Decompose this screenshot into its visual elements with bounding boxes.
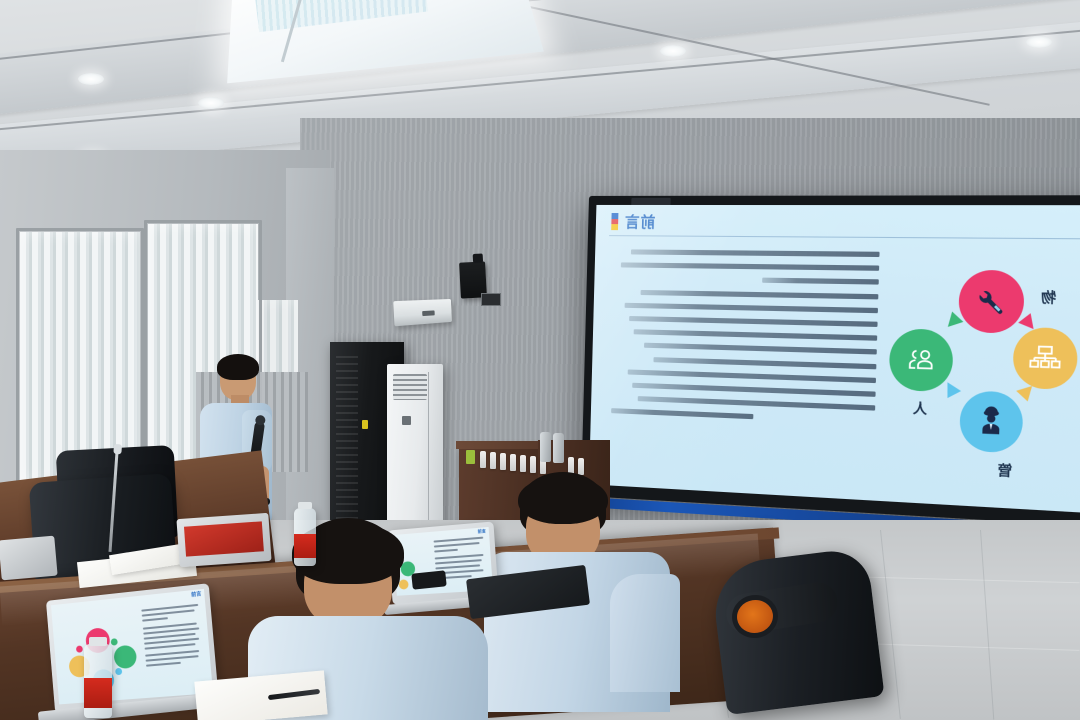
laptop-slide-logo: 前言 <box>191 590 202 598</box>
ac-grill <box>393 374 427 400</box>
worker-icon <box>974 405 1009 439</box>
attendee-arm <box>610 574 680 692</box>
green-cup <box>466 450 475 464</box>
downlight <box>78 73 104 85</box>
ac-brand-mark <box>402 416 411 425</box>
slide-paragraph <box>608 289 878 354</box>
desk-nameplate <box>176 513 271 567</box>
water-bottle <box>500 453 506 470</box>
desk-nameplate <box>0 536 58 581</box>
laptop-screen: 前言 <box>51 589 213 705</box>
floor-grout-line <box>880 530 901 719</box>
wall-split-ac <box>393 299 452 326</box>
downlight <box>1026 36 1052 48</box>
water-bottle <box>480 451 486 468</box>
diagram-arrow-1 <box>942 312 963 332</box>
attendee-hair-top <box>518 476 608 524</box>
water-bottle <box>490 452 496 469</box>
rack-status-led <box>362 420 368 429</box>
wrench-icon <box>974 285 1009 318</box>
floor-standing-ac <box>387 364 443 542</box>
bottle-cap <box>89 637 107 646</box>
slide-logo-text: 前言 <box>624 211 656 232</box>
presenter-hair <box>217 354 259 380</box>
water-bottle <box>510 454 516 471</box>
wall-control-panel[interactable] <box>481 293 501 306</box>
slide-paragraph <box>610 249 879 284</box>
water-bottle-foreground <box>84 644 112 718</box>
slide-text <box>601 243 886 490</box>
water-bottle <box>520 455 526 472</box>
bottle-label <box>294 534 316 558</box>
slide-logo-bars-icon <box>611 213 618 230</box>
laptop-slide-logo: 前言 <box>478 528 487 535</box>
water-bottle <box>578 458 584 475</box>
nameplate-panel <box>184 521 264 556</box>
bottle-cap <box>298 502 312 509</box>
diagram-label-manage: 管 <box>997 459 1012 480</box>
laptop-slide: 前言 <box>51 589 213 705</box>
slide-divider <box>609 235 1080 239</box>
water-bottle <box>530 456 536 473</box>
conference-room-photo: 前言 <box>0 0 1080 720</box>
downlight <box>198 97 224 109</box>
bottle-label <box>84 678 112 708</box>
laptop-diagram-arrow <box>115 668 122 676</box>
rack-vents <box>336 356 358 520</box>
slide-paragraph <box>606 356 876 425</box>
laptop-diagram-arrow <box>76 645 83 652</box>
water-bottle-table <box>294 508 316 566</box>
ac-panel-seam <box>428 372 429 532</box>
cycle-diagram: 物 人 <box>879 245 1080 501</box>
equipment-icon <box>1028 341 1063 375</box>
diagram-node-material <box>958 270 1025 334</box>
laptop-lid: 前言 <box>46 583 219 713</box>
laptop-diagram-arrow <box>111 638 118 646</box>
thermos <box>540 432 551 462</box>
display-surface: 前言 <box>589 205 1080 514</box>
thermos <box>553 433 564 463</box>
diagram-node-manage <box>959 390 1024 453</box>
downlight <box>660 45 686 57</box>
floor-grout-line <box>980 530 994 720</box>
people-icon <box>904 344 938 377</box>
slide-body: 物 人 <box>601 243 1080 501</box>
diagram-label-people: 人 <box>913 397 928 418</box>
slide-logo: 前言 <box>611 211 655 232</box>
laptop-diagram-node-people <box>113 644 137 669</box>
presentation-slide: 前言 <box>589 205 1080 514</box>
diagram-node-environ <box>1012 327 1078 390</box>
diagram-label-material: 物 <box>1041 286 1057 307</box>
